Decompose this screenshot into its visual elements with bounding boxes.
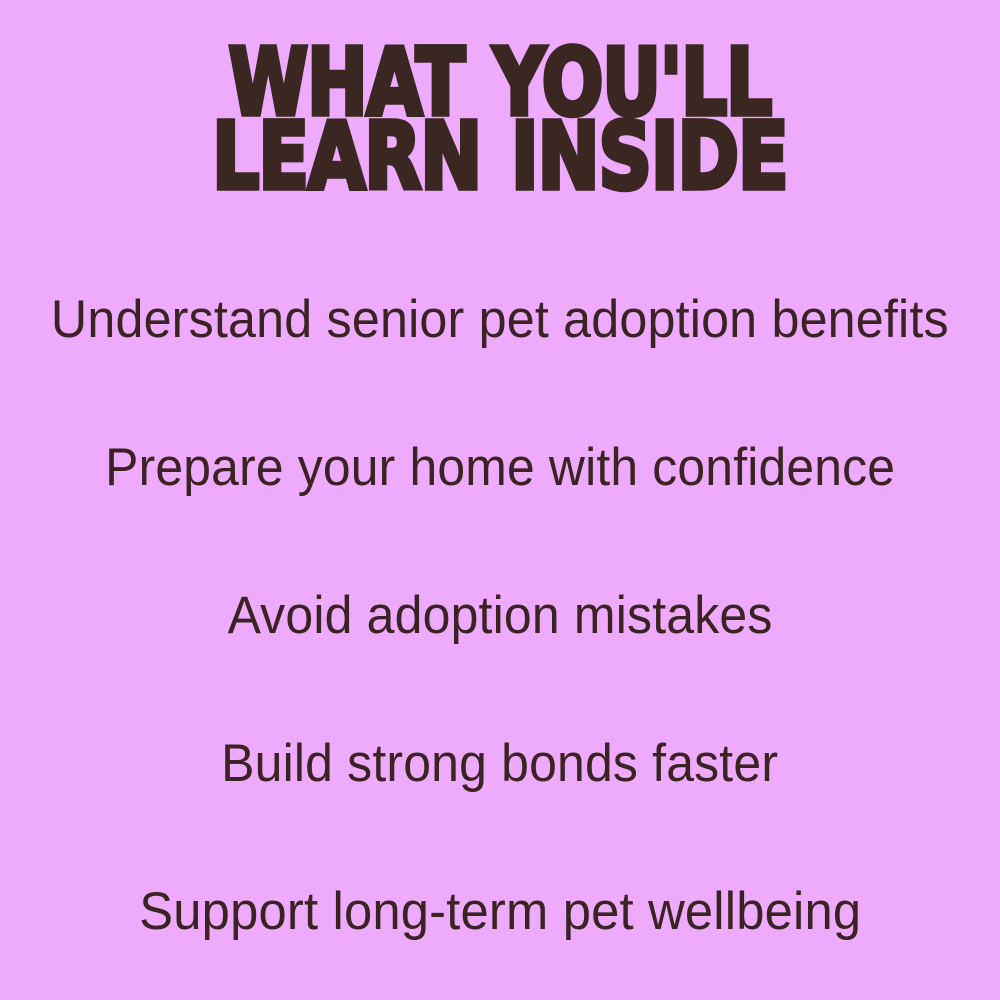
list-item-label: Build strong bonds faster bbox=[221, 736, 778, 792]
list-item: Support long-term pet wellbeing bbox=[0, 838, 1000, 986]
page-title-line-2: LEARN INSIDE bbox=[99, 120, 901, 194]
page-title: WHAT YOU'LL LEARN INSIDE bbox=[0, 46, 1000, 193]
list-item: Build strong bonds faster bbox=[0, 690, 1000, 838]
list-item-label: Avoid adoption mistakes bbox=[227, 588, 772, 644]
list-item-label: Support long-term pet wellbeing bbox=[139, 884, 861, 940]
list-item-label: Prepare your home with confidence bbox=[105, 440, 895, 496]
list-item-label: Understand senior pet adoption benefits bbox=[51, 292, 949, 348]
list-item: Prepare your home with confidence bbox=[0, 394, 1000, 542]
slide-canvas: WHAT YOU'LL LEARN INSIDE Understand seni… bbox=[0, 0, 1000, 1000]
learning-points-list: Understand senior pet adoption benefits … bbox=[0, 246, 1000, 986]
list-item: Avoid adoption mistakes bbox=[0, 542, 1000, 690]
list-item: Understand senior pet adoption benefits bbox=[0, 246, 1000, 394]
